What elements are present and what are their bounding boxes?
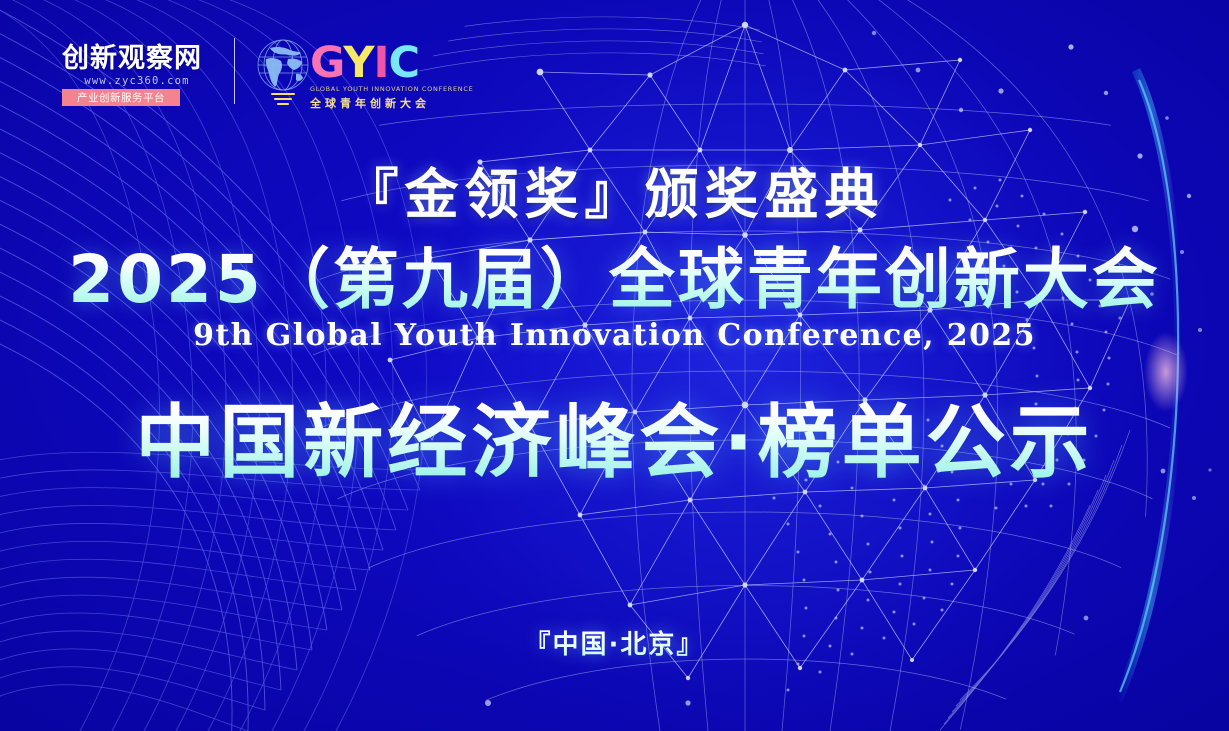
gyic-subtitle-english: GLOBAL YOUTH INNOVATION CONFERENCE [310,85,473,93]
gyic-subtitle-chinese: 全球青年创新大会 [310,95,430,111]
gyic-wordmark: GYIC [310,41,419,85]
poster-header: 创新观察网 www.zyc360.com 产业创新服务平台 [0,0,1229,130]
brand-badge: 产业创新服务平台 [62,89,180,106]
gyic-logo: GYIC GLOBAL YOUTH INNOVATION CONFERENCE … [252,33,427,113]
gyic-letter-c: C [389,38,420,88]
poster-canvas: 创新观察网 www.zyc360.com 产业创新服务平台 [0,0,1229,731]
gyic-letter-y: Y [343,38,373,88]
brand-name-text: 创新观察网 [62,44,222,74]
gyic-letter-g: G [310,38,343,88]
brand-website-url: www.zyc360.com [62,75,212,87]
gyic-letter-i: I [374,38,389,88]
vertical-divider-icon [234,38,235,104]
brand-logo-innovation-observer: 创新观察网 www.zyc360.com 产业创新服务平台 [62,44,222,112]
globe-lightbulb-icon [252,35,314,107]
